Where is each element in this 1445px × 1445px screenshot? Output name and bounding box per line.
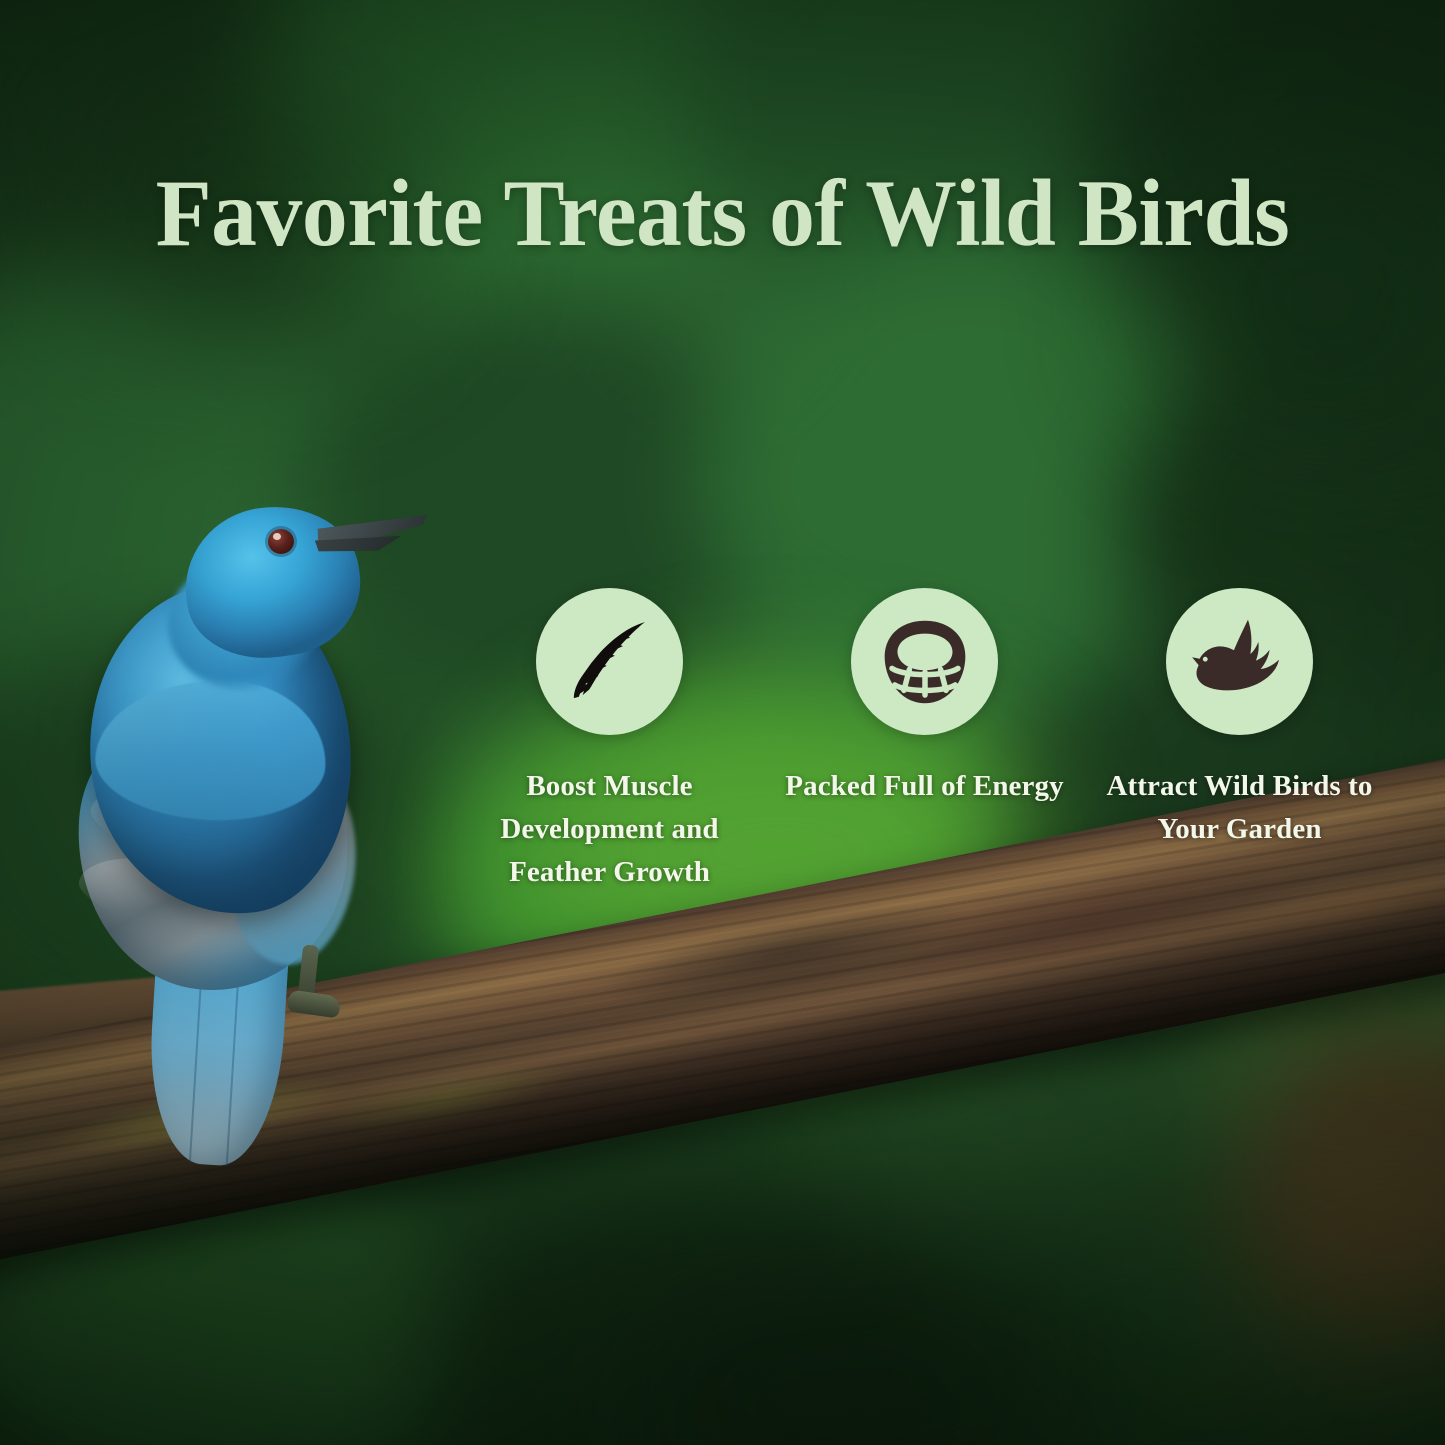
feature-item-feather: Boost Muscle Development and Feather Gro… <box>452 588 767 894</box>
product-feature-banner: Favorite Treats of Wild Birds Boost Musc… <box>0 0 1445 1445</box>
feather-icon <box>562 614 658 710</box>
page-title: Favorite Treats of Wild Birds <box>25 166 1419 261</box>
bird-nest-icon-badge <box>851 588 998 735</box>
feature-item-attract-birds: Attract Wild Birds to Your Garden <box>1082 588 1397 851</box>
feather-icon-badge <box>536 588 683 735</box>
bird-nest-icon <box>879 618 971 706</box>
feature-list: Boost Muscle Development and Feather Gro… <box>452 588 1397 894</box>
flying-bird-icon <box>1190 616 1290 708</box>
feature-label: Attract Wild Birds to Your Garden <box>1105 765 1375 851</box>
feature-item-nest: Packed Full of Energy <box>767 588 1082 808</box>
feature-label: Packed Full of Energy <box>785 765 1063 808</box>
flying-bird-icon-badge <box>1166 588 1313 735</box>
feature-label: Boost Muscle Development and Feather Gro… <box>480 765 740 894</box>
